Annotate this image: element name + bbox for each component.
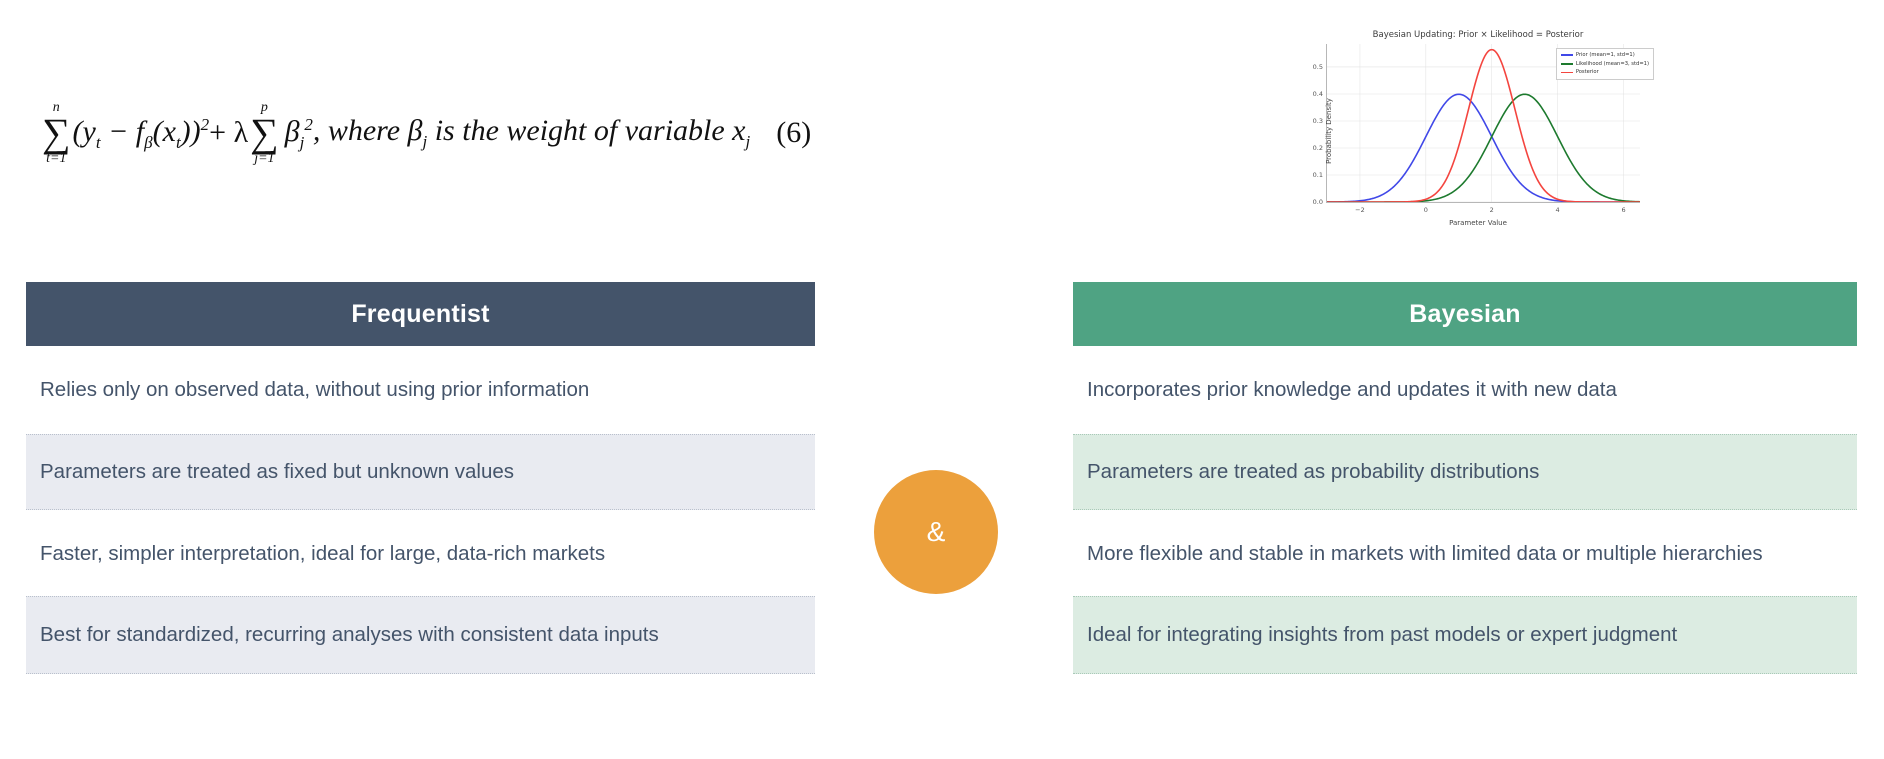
equation-block: n ∑ t=1 (yt − fβ(xt))2 + λ p ∑ j=1 βj2 ,… xyxy=(40,100,800,172)
summation-1: n ∑ t=1 xyxy=(42,100,71,167)
summation-2-lower-limit: j=1 xyxy=(254,151,274,166)
frequentist-row-1: Relies only on observed data, without us… xyxy=(26,360,815,420)
chart-legend-item: Prior (mean=1, std=1) xyxy=(1561,51,1649,60)
sigma-icon: ∑ xyxy=(42,115,71,151)
chart-legend: Prior (mean=1, std=1)Likelihood (mean=3,… xyxy=(1556,48,1654,80)
chart-x-tick-label: 6 xyxy=(1621,206,1625,214)
equation-tail: , where βj is the weight of variable xj xyxy=(313,116,750,150)
chart-title: Bayesian Updating: Prior × Likelihood = … xyxy=(1298,30,1658,40)
chart-legend-item: Posterior xyxy=(1561,68,1649,77)
chart-x-axis-label: Parameter Value xyxy=(1298,219,1658,227)
legend-color-swatch xyxy=(1561,63,1573,65)
bayesian-row-3: More flexible and stable in markets with… xyxy=(1073,524,1857,584)
bayesian-updating-chart: Bayesian Updating: Prior × Likelihood = … xyxy=(1298,28,1658,233)
summation-1-lower-limit: t=1 xyxy=(46,151,66,166)
bayesian-row-4: Ideal for integrating insights from past… xyxy=(1073,596,1857,674)
equation-exponent-2a: 2 xyxy=(201,115,210,134)
chart-y-tick-label: 0.0 xyxy=(1313,198,1323,206)
chart-y-tick-label: 0.1 xyxy=(1313,171,1323,179)
frequentist-header: Frequentist xyxy=(26,282,815,346)
chart-legend-item: Likelihood (mean=3, std=1) xyxy=(1561,60,1649,69)
equation-number: (6) xyxy=(776,118,811,148)
sigma-icon: ∑ xyxy=(250,115,279,151)
equation-open-paren-y: (y xyxy=(73,115,96,148)
equation-close-parens: )) xyxy=(181,115,201,148)
equation-beta-2: β xyxy=(285,115,300,148)
equation-exponent-2b: 2 xyxy=(304,115,313,134)
equation-plus-lambda: + λ xyxy=(209,118,248,148)
equation-term-residual: (yt − fβ(xt))2 xyxy=(73,116,210,151)
equation-open-x: (x xyxy=(153,115,176,148)
ampersand-label: & xyxy=(927,516,946,548)
chart-y-tick-label: 0.3 xyxy=(1313,117,1323,125)
frequentist-row-4: Best for standardized, recurring analyse… xyxy=(26,596,815,674)
frequentist-row-3: Faster, simpler interpretation, ideal fo… xyxy=(26,524,815,584)
frequentist-row-2: Parameters are treated as fixed but unkn… xyxy=(26,434,815,510)
bayesian-header: Bayesian xyxy=(1073,282,1857,346)
legend-label: Likelihood (mean=3, std=1) xyxy=(1576,60,1649,69)
chart-x-tick-label: 4 xyxy=(1556,206,1560,214)
chart-y-tick-label: 0.5 xyxy=(1313,63,1323,71)
legend-label: Posterior xyxy=(1576,68,1599,77)
equation-minus-f: − f xyxy=(101,115,145,148)
equation-sub-j1: j xyxy=(300,133,305,152)
chart-y-tick-label: 0.4 xyxy=(1313,90,1323,98)
equation-where-text: , where β xyxy=(313,114,423,147)
equation-sub-beta: β xyxy=(144,133,152,152)
legend-label: Prior (mean=1, std=1) xyxy=(1576,51,1635,60)
equation-term-penalty: βj2 xyxy=(285,116,313,151)
legend-color-swatch xyxy=(1561,54,1573,56)
legend-color-swatch xyxy=(1561,72,1573,74)
bayesian-row-2: Parameters are treated as probability di… xyxy=(1073,434,1857,510)
chart-x-tick-label: −2 xyxy=(1355,206,1365,214)
bayesian-column: Bayesian Incorporates prior knowledge an… xyxy=(1073,282,1857,674)
chart-y-tick-label: 0.2 xyxy=(1313,144,1323,152)
equation-row: n ∑ t=1 (yt − fβ(xt))2 + λ p ∑ j=1 βj2 ,… xyxy=(40,100,800,167)
summation-2: p ∑ j=1 xyxy=(250,100,279,167)
chart-x-tick-label: 0 xyxy=(1424,206,1428,214)
chart-x-tick-label: 2 xyxy=(1490,206,1494,214)
ampersand-connector-badge: & xyxy=(874,470,998,594)
equation-tail-text: is the weight of variable x xyxy=(427,114,745,147)
frequentist-column: Frequentist Relies only on observed data… xyxy=(26,282,815,674)
equation-sub-j3: j xyxy=(746,132,751,151)
chart-y-axis-label: Probability Density xyxy=(1325,98,1333,164)
bayesian-row-1: Incorporates prior knowledge and updates… xyxy=(1073,360,1857,420)
